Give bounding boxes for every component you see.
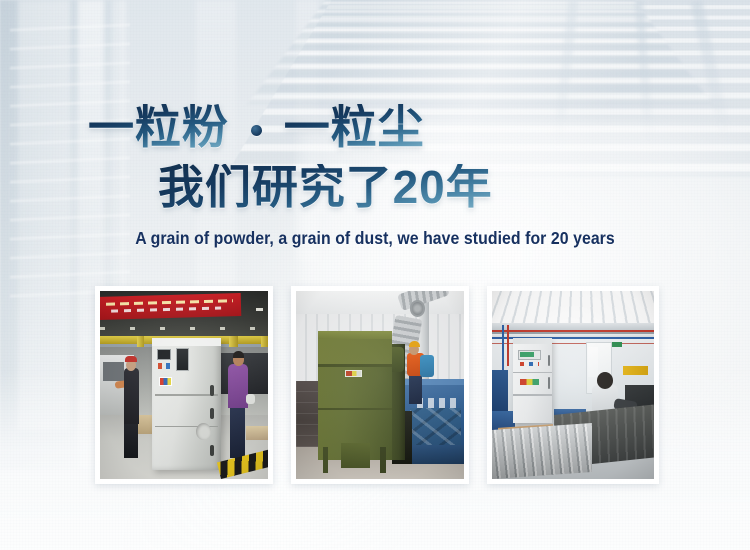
photo-card-3[interactable] [487, 286, 659, 484]
photo-gallery [0, 286, 750, 486]
red-banner [100, 293, 241, 320]
control-display [520, 352, 535, 357]
photo-card-1[interactable] [95, 286, 273, 484]
photo-2-image [296, 291, 464, 479]
subtitle-text: A grain of powder, a grain of dust, we h… [36, 228, 715, 249]
photo-1-image [100, 291, 268, 479]
photo-card-2[interactable] [291, 286, 469, 484]
photo-3-image [492, 291, 654, 479]
promo-banner: 一粒粉 一粒尘 我们研究了20年 A grain of powder, a gr… [0, 0, 750, 550]
red-pipe [492, 330, 654, 332]
